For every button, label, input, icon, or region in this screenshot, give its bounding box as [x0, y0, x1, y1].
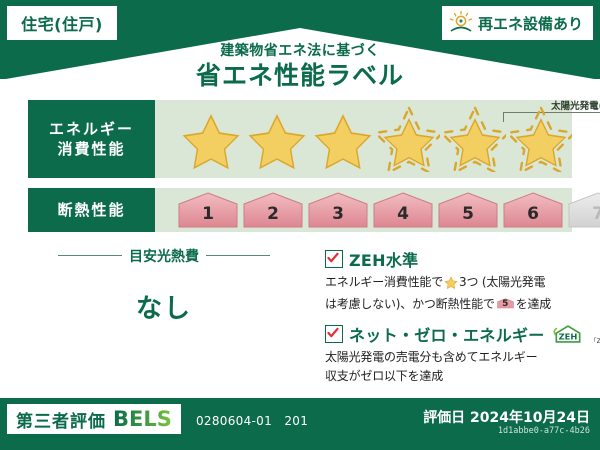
- criteria-desc-part2: 3つ (太陽光発電: [459, 275, 545, 289]
- energy-performance-label: 住宅(住戸) 再エネ設備あり 建築物省エネ法に基づく 省エネ性能ラベル エネルギ…: [0, 0, 600, 450]
- criteria-title: ネット・ゼロ・エネルギー: [349, 322, 545, 346]
- insulation-level-value: 3: [332, 204, 344, 224]
- criteria-item-zeh-standard: ZEH水準 エネルギー消費性能で3つ (太陽光発電は考慮しない)、かつ断熱性能で…: [325, 247, 583, 313]
- document-hash: 1d1abbe0-a77c-4b26: [498, 426, 590, 436]
- bels-logo: BELS: [113, 407, 172, 431]
- inline-insulation-badge: 5: [497, 296, 514, 311]
- criteria-desc-part1: エネルギー消費性能で: [325, 275, 443, 289]
- insulation-level-field: 1 2 3 4 5: [155, 188, 572, 232]
- third-party-label: 第三者評価: [16, 407, 106, 432]
- energy-label-line2: 消費性能: [57, 139, 125, 159]
- criteria-desc-part4: を達成: [516, 297, 551, 311]
- energy-label-line1: エネルギー: [49, 119, 134, 139]
- insulation-level-badge: 2: [242, 192, 304, 229]
- criteria-list: ZEH水準 エネルギー消費性能で3つ (太陽光発電は考慮しない)、かつ断熱性能で…: [325, 247, 583, 394]
- checkbox-checked-icon[interactable]: [325, 325, 343, 343]
- divider-left: [58, 255, 122, 257]
- energy-performance-label-box: エネルギー 消費性能: [28, 100, 155, 178]
- insulation-level-value: 2: [267, 204, 279, 224]
- utility-cost-value: なし: [30, 288, 298, 325]
- evaluation-date: 評価日 2024年10月24日: [423, 407, 590, 427]
- page-title: 省エネ性能ラベル: [0, 56, 600, 92]
- zeh-logo-note: 「ZEH」: [591, 336, 600, 345]
- insulation-level-badge: 6: [502, 192, 564, 229]
- criteria-desc-part3: は考慮しない)、かつ断熱性能で: [325, 297, 495, 311]
- insulation-level-value: 1: [202, 204, 214, 224]
- zeh-house-logo-icon: ZEH: [551, 324, 585, 344]
- checkbox-checked-icon[interactable]: [325, 250, 343, 268]
- inline-star-icon: [444, 275, 458, 295]
- bels-id: 0280604-01 201: [196, 412, 308, 429]
- star-rating: [180, 104, 572, 172]
- insulation-performance-label-box: 断熱性能: [28, 188, 155, 232]
- criteria-desc-part2: 収支がゼロ以下を達成: [325, 369, 443, 383]
- criteria-item-net-zero-energy: ネット・ゼロ・エネルギー ZEH 「ZEH」 太陽光発電の売電分も含めてエネルギ…: [325, 322, 583, 385]
- criteria-desc-part1: 太陽光発電の売電分も含めてエネルギー: [325, 350, 537, 364]
- utility-cost-title: 目安光熱費: [122, 246, 206, 266]
- insulation-performance-row: 断熱性能 1 2 3: [28, 188, 572, 232]
- criteria-description: 太陽光発電の売電分も含めてエネルギー収支がゼロ以下を達成: [325, 348, 583, 385]
- svg-text:ZEH: ZEH: [558, 332, 577, 342]
- bels-certification-badge: 第三者評価 BELS: [7, 404, 181, 434]
- utility-cost-heading: 目安光熱費: [30, 245, 298, 266]
- insulation-level-badge: 5: [437, 192, 499, 229]
- insulation-level-value: 4: [397, 204, 409, 224]
- performance-panel: エネルギー 消費性能 太陽光発電(自家消費)分: [28, 100, 572, 240]
- insulation-level-value: 6: [527, 204, 539, 224]
- star-icon: [312, 104, 374, 172]
- criteria-title: ZEH水準: [349, 247, 418, 271]
- housing-type-badge: 住宅(住戸): [7, 6, 117, 40]
- criteria-description: エネルギー消費性能で3つ (太陽光発電は考慮しない)、かつ断熱性能で5を達成: [325, 273, 583, 313]
- footer: 第三者評価 BELS 0280604-01 201 評価日 2024年10月24…: [0, 398, 600, 450]
- star-icon-solar: [510, 104, 572, 172]
- insulation-level-badge: 4: [372, 192, 434, 229]
- insulation-label: 断熱性能: [57, 200, 125, 220]
- star-icon: [180, 104, 242, 172]
- insulation-level-badge-inactive: 7: [567, 192, 600, 229]
- star-icon-solar: [444, 104, 506, 172]
- insulation-level-badge: 3: [307, 192, 369, 229]
- energy-performance-row: エネルギー 消費性能 太陽光発電(自家消費)分: [28, 100, 572, 178]
- star-icon-solar: [378, 104, 440, 172]
- energy-star-field: 太陽光発電(自家消費)分: [155, 100, 572, 178]
- sun-icon: [448, 10, 474, 36]
- insulation-level-scale: 1 2 3 4 5: [177, 192, 600, 229]
- star-icon: [246, 104, 308, 172]
- divider-right: [206, 255, 270, 257]
- insulation-level-badge: 1: [177, 192, 239, 229]
- renewable-equipment-badge: 再エネ設備あり: [442, 6, 593, 40]
- housing-type-label: 住宅(住戸): [21, 11, 103, 35]
- insulation-level-value: 5: [462, 204, 474, 224]
- inline-insulation-value: 5: [497, 298, 514, 312]
- insulation-level-value: 7: [592, 204, 600, 224]
- renewable-equipment-label: 再エネ設備あり: [478, 13, 583, 34]
